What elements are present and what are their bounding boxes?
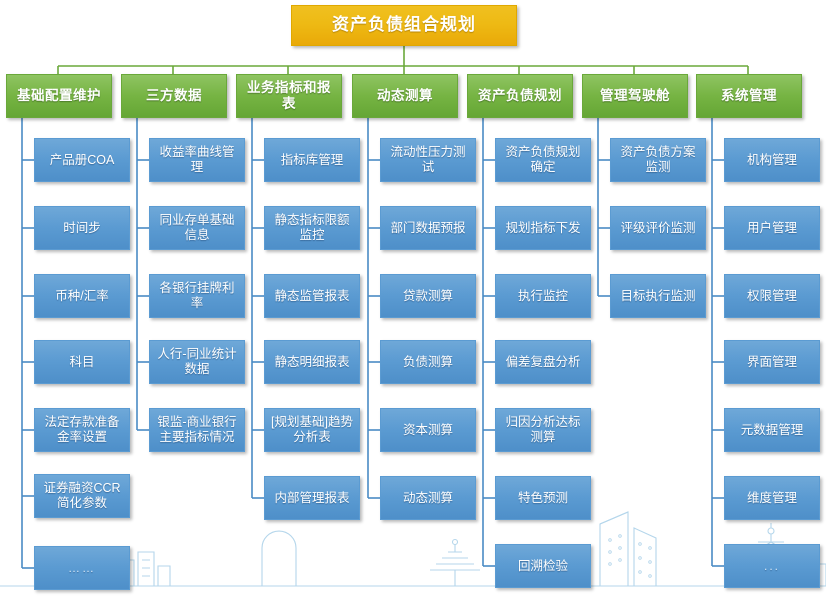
- leaf-node-label: 执行监控: [500, 289, 586, 304]
- leaf-node-label: 权限管理: [729, 289, 815, 304]
- category-header-label: 业务指标和报表: [241, 80, 337, 112]
- leaf-node-c5-r3[interactable]: 执行监控: [495, 274, 591, 318]
- leaf-node-label: 维度管理: [729, 491, 815, 506]
- leaf-node-c7-r4[interactable]: 界面管理: [724, 340, 820, 384]
- leaf-node-label: 人行-同业统计数据: [154, 347, 240, 377]
- leaf-node-label: 证券融资CCR简化参数: [39, 481, 125, 511]
- leaf-node-label: [规划基础]趋势分析表: [269, 415, 355, 445]
- leaf-node-label: 目标执行监测: [615, 289, 701, 304]
- leaf-node-label: 贷款测算: [385, 289, 471, 304]
- leaf-node-label: 资产负债方案监测: [615, 145, 701, 175]
- leaf-node-label: 各银行挂牌利率: [154, 281, 240, 311]
- leaf-node-label: 流动性压力测试: [385, 145, 471, 175]
- leaf-node-c2-r3[interactable]: 各银行挂牌利率: [149, 274, 245, 318]
- category-header-2[interactable]: 三方数据: [121, 74, 227, 118]
- leaf-node-label: 静态明细报表: [269, 355, 355, 370]
- leaf-node-label: 时间步: [39, 221, 125, 236]
- leaf-node-label: ……: [39, 561, 125, 575]
- leaf-node-c1-r2[interactable]: 时间步: [34, 206, 130, 250]
- category-header-6[interactable]: 管理驾驶舱: [582, 74, 688, 118]
- leaf-node-c2-r5[interactable]: 银监-商业银行主要指标情况: [149, 408, 245, 452]
- leaf-node-label: 界面管理: [729, 355, 815, 370]
- leaf-node-label: 同业存单基础信息: [154, 213, 240, 243]
- leaf-node-c1-r5[interactable]: 法定存款准备金率设置: [34, 408, 130, 452]
- root-title-label: 资产负债组合规划: [296, 15, 512, 35]
- leaf-node-label: 科目: [39, 355, 125, 370]
- leaf-node-label: 静态指标限额监控: [269, 213, 355, 243]
- leaf-node-label: 评级评价监测: [615, 221, 701, 236]
- leaf-node-c4-r2[interactable]: 部门数据预报: [380, 206, 476, 250]
- category-header-label: 系统管理: [701, 88, 797, 104]
- leaf-node-c7-r1[interactable]: 机构管理: [724, 138, 820, 182]
- leaf-node-c1-r4[interactable]: 科目: [34, 340, 130, 384]
- leaf-node-label: 规划指标下发: [500, 221, 586, 236]
- leaf-node-c5-r2[interactable]: 规划指标下发: [495, 206, 591, 250]
- org-chart-canvas: 资产负债组合规划 基础配置维护 三方数据 业务指标和报表 动态测算 资产负债规划…: [0, 0, 826, 598]
- leaf-node-c2-r4[interactable]: 人行-同业统计数据: [149, 340, 245, 384]
- category-header-label: 动态测算: [357, 88, 453, 104]
- root-title-node[interactable]: 资产负债组合规划: [291, 5, 517, 46]
- leaf-node-c5-r1[interactable]: 资产负债规划确定: [495, 138, 591, 182]
- leaf-node-c2-r2[interactable]: 同业存单基础信息: [149, 206, 245, 250]
- leaf-node-label: 回溯检验: [500, 559, 586, 574]
- leaf-node-label: 部门数据预报: [385, 221, 471, 236]
- leaf-node-c1-r6[interactable]: 证券融资CCR简化参数: [34, 474, 130, 518]
- leaf-node-label: 静态监管报表: [269, 289, 355, 304]
- leaf-node-c1-r7[interactable]: ……: [34, 546, 130, 590]
- leaf-node-label: 产品册COA: [39, 153, 125, 168]
- leaf-node-c4-r3[interactable]: 贷款测算: [380, 274, 476, 318]
- category-header-3[interactable]: 业务指标和报表: [236, 74, 342, 118]
- leaf-node-label: 偏差复盘分析: [500, 355, 586, 370]
- leaf-node-c7-r6[interactable]: 维度管理: [724, 476, 820, 520]
- leaf-node-c4-r5[interactable]: 资本测算: [380, 408, 476, 452]
- leaf-node-c4-r6[interactable]: 动态测算: [380, 476, 476, 520]
- leaf-node-c7-r2[interactable]: 用户管理: [724, 206, 820, 250]
- leaf-node-c6-r3[interactable]: 目标执行监测: [610, 274, 706, 318]
- leaf-node-label: 资产负债规划确定: [500, 145, 586, 175]
- category-header-4[interactable]: 动态测算: [352, 74, 458, 118]
- leaf-node-c1-r1[interactable]: 产品册COA: [34, 138, 130, 182]
- leaf-node-c4-r4[interactable]: 负债测算: [380, 340, 476, 384]
- leaf-node-c5-r7[interactable]: 回溯检验: [495, 544, 591, 588]
- category-header-label: 资产负债规划: [472, 88, 568, 104]
- leaf-node-label: 资本测算: [385, 423, 471, 438]
- leaf-node-c7-r7[interactable]: ...: [724, 544, 820, 588]
- category-header-label: 三方数据: [126, 88, 222, 104]
- leaf-node-label: 特色预测: [500, 491, 586, 506]
- leaf-node-c4-r1[interactable]: 流动性压力测试: [380, 138, 476, 182]
- leaf-node-c3-r1[interactable]: 指标库管理: [264, 138, 360, 182]
- leaf-node-c7-r5[interactable]: 元数据管理: [724, 408, 820, 452]
- leaf-node-c3-r6[interactable]: 内部管理报表: [264, 476, 360, 520]
- leaf-node-c2-r1[interactable]: 收益率曲线管理: [149, 138, 245, 182]
- category-header-7[interactable]: 系统管理: [696, 74, 802, 118]
- category-header-1[interactable]: 基础配置维护: [6, 74, 112, 118]
- leaf-node-c6-r1[interactable]: 资产负债方案监测: [610, 138, 706, 182]
- leaf-node-label: 负债测算: [385, 355, 471, 370]
- leaf-node-label: 币种/汇率: [39, 289, 125, 304]
- leaf-node-label: 法定存款准备金率设置: [39, 415, 125, 445]
- leaf-node-label: 动态测算: [385, 491, 471, 506]
- leaf-node-c1-r3[interactable]: 币种/汇率: [34, 274, 130, 318]
- leaf-node-label: 归因分析达标测算: [500, 415, 586, 445]
- category-header-label: 基础配置维护: [11, 88, 107, 104]
- category-header-label: 管理驾驶舱: [587, 88, 683, 104]
- leaf-node-label: 指标库管理: [269, 153, 355, 168]
- leaf-node-label: 内部管理报表: [269, 491, 355, 506]
- leaf-node-c3-r2[interactable]: 静态指标限额监控: [264, 206, 360, 250]
- leaf-node-c5-r5[interactable]: 归因分析达标测算: [495, 408, 591, 452]
- leaf-node-c7-r3[interactable]: 权限管理: [724, 274, 820, 318]
- leaf-node-c5-r6[interactable]: 特色预测: [495, 476, 591, 520]
- leaf-node-label: 元数据管理: [729, 423, 815, 438]
- leaf-node-c5-r4[interactable]: 偏差复盘分析: [495, 340, 591, 384]
- leaf-node-c3-r5[interactable]: [规划基础]趋势分析表: [264, 408, 360, 452]
- leaf-node-label: 机构管理: [729, 153, 815, 168]
- leaf-node-label: 收益率曲线管理: [154, 145, 240, 175]
- category-header-5[interactable]: 资产负债规划: [467, 74, 573, 118]
- leaf-node-c3-r4[interactable]: 静态明细报表: [264, 340, 360, 384]
- leaf-node-c6-r2[interactable]: 评级评价监测: [610, 206, 706, 250]
- leaf-node-label: 用户管理: [729, 221, 815, 236]
- leaf-node-label: 银监-商业银行主要指标情况: [154, 415, 240, 445]
- leaf-node-c3-r3[interactable]: 静态监管报表: [264, 274, 360, 318]
- leaf-node-label: ...: [729, 559, 815, 573]
